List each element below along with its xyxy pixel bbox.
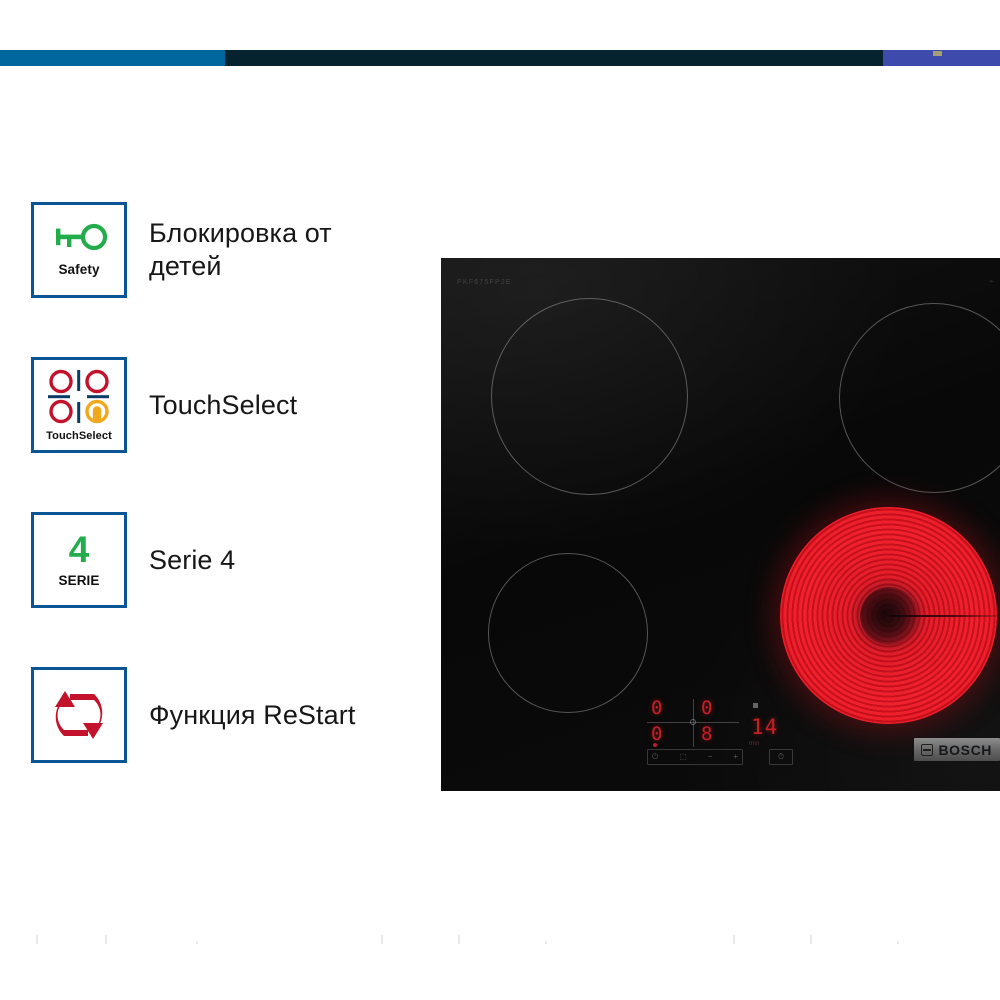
badge-caption-serie: SERIE bbox=[58, 573, 99, 588]
cooktop-zone-rear-left bbox=[491, 298, 688, 495]
feature-badge-restart bbox=[31, 667, 127, 763]
feature-badge-touchselect: TouchSelect bbox=[31, 357, 127, 453]
top-bar-segment-blue bbox=[0, 50, 225, 66]
feature-item-serie-4: 4 SERIE Serie 4 bbox=[31, 510, 431, 610]
top-accent-bar bbox=[0, 50, 1000, 66]
feature-item-child-lock: Safety Блокировка от детей bbox=[31, 200, 431, 300]
restart-loop-icon bbox=[48, 685, 110, 745]
badge-caption-touchselect: TouchSelect bbox=[46, 430, 112, 442]
footer-tick bbox=[545, 941, 547, 944]
footer-tick bbox=[105, 935, 107, 944]
feature-badge-safety: Safety bbox=[31, 202, 127, 298]
feature-label-serie-4: Serie 4 bbox=[149, 544, 235, 577]
footer-tick bbox=[897, 941, 899, 944]
cooktop-control-panel[interactable]: 0 0 0 8 14 min ⏻ ⬚ − + ⏱ bbox=[645, 697, 795, 769]
footer-tick bbox=[810, 935, 812, 944]
footer-tick-row bbox=[0, 935, 1000, 953]
footer-tick bbox=[36, 935, 38, 944]
zone-level-display-front-left: 0 bbox=[651, 723, 663, 745]
badge-caption-safety: Safety bbox=[58, 262, 99, 277]
minus-key-icon[interactable]: − bbox=[708, 753, 713, 761]
timer-indicator-dot bbox=[753, 703, 758, 708]
lock-key-icon[interactable]: ⬚ bbox=[679, 753, 687, 761]
touch-control-strip[interactable]: ⏻ ⬚ − + bbox=[647, 749, 743, 765]
feature-list: Safety Блокировка от детей TouchSelect bbox=[31, 200, 431, 820]
timer-unit-label: min bbox=[749, 741, 760, 747]
footer-tick bbox=[458, 935, 460, 944]
timer-display: 14 bbox=[751, 715, 778, 739]
serie-number: 4 bbox=[69, 532, 90, 567]
safety-key-icon bbox=[48, 223, 110, 251]
touchselect-icon bbox=[46, 368, 112, 426]
feature-label-child-lock: Блокировка от детей bbox=[149, 217, 399, 283]
footer-tick bbox=[196, 941, 198, 944]
bosch-anchor-icon bbox=[921, 744, 933, 756]
footer-tick bbox=[381, 935, 383, 944]
top-bar-glint bbox=[933, 51, 942, 56]
timer-key-icon[interactable]: ⏱ bbox=[769, 749, 793, 765]
zone-level-display-front-right: 8 bbox=[701, 723, 713, 745]
zone-level-display-rear-left: 0 bbox=[651, 697, 663, 719]
feature-badge-serie: 4 SERIE bbox=[31, 512, 127, 608]
brand-plate: BOSCH bbox=[914, 738, 1000, 761]
cooktop-zone-front-left bbox=[488, 553, 648, 713]
cooktop-model-marking: PKF675FP2E bbox=[457, 279, 512, 286]
cooktop-corner-mark: ⌁ bbox=[989, 276, 994, 287]
plus-key-icon[interactable]: + bbox=[733, 753, 738, 761]
cooktop-zone-front-right-glowing bbox=[780, 507, 997, 724]
power-indicator-dot bbox=[653, 743, 657, 747]
zone-level-display-rear-right: 0 bbox=[701, 697, 713, 719]
burner-spoke bbox=[889, 615, 998, 617]
feature-item-restart: Функция ReStart bbox=[31, 665, 431, 765]
top-bar-segment-navy bbox=[225, 50, 883, 66]
feature-item-touchselect: TouchSelect TouchSelect bbox=[31, 355, 431, 455]
panel-center-indicator bbox=[690, 719, 696, 725]
brand-name: BOSCH bbox=[938, 742, 992, 758]
power-key-icon[interactable]: ⏻ bbox=[652, 753, 658, 761]
footer-tick bbox=[733, 935, 735, 944]
feature-label-touchselect: TouchSelect bbox=[149, 389, 297, 422]
product-image-cooktop: PKF675FP2E ⌁ 0 0 0 8 14 min ⏻ ⬚ − + ⏱ BO… bbox=[441, 258, 1000, 791]
feature-label-restart: Функция ReStart bbox=[149, 699, 355, 732]
